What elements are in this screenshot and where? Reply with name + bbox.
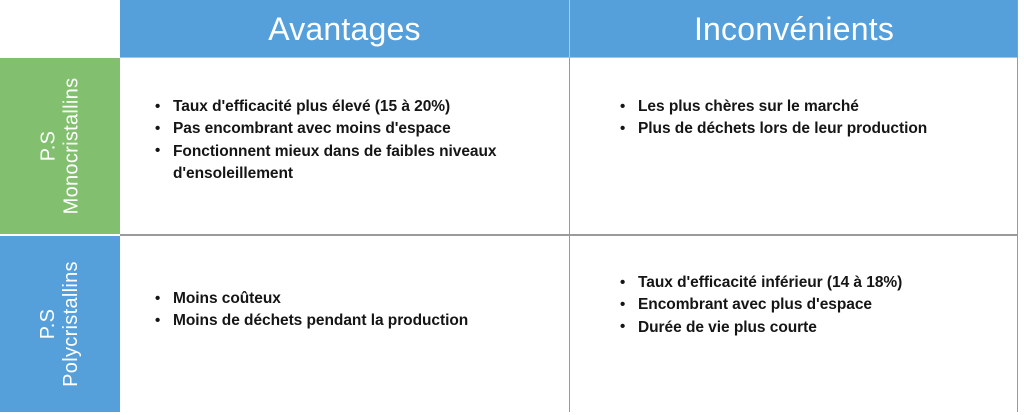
list-item: Taux d'efficacité plus élevé (15 à 20%)	[155, 96, 550, 118]
comparison-table: Avantages Inconvénients P.S Monocristall…	[0, 0, 1024, 415]
table-right-border	[1017, 0, 1018, 412]
row-label-line1: P.S	[37, 309, 59, 340]
row-label-text: P.S Polycristallins	[37, 261, 83, 387]
cell-row1-advantages: Taux d'efficacité plus élevé (15 à 20%) …	[120, 58, 570, 234]
header-label-disadvantages: Inconvénients	[694, 13, 894, 45]
row-label-text: P.S Monocristallins	[37, 78, 83, 215]
list-item: Moins coûteux	[155, 288, 550, 310]
bullet-list-row2-advantages: Moins coûteux Moins de déchets pendant l…	[155, 288, 550, 333]
cell-row2-disadvantages: Taux d'efficacité inférieur (14 à 18%) E…	[570, 236, 1018, 412]
row-label-line1: P.S	[37, 131, 59, 162]
bullet-list-row1-advantages: Taux d'efficacité plus élevé (15 à 20%) …	[155, 96, 550, 186]
table-row: P.S Polycristallins Moins coûteux Moins …	[0, 236, 1018, 412]
row-label-line2: Monocristallins	[60, 78, 82, 215]
list-item: Taux d'efficacité inférieur (14 à 18%)	[620, 272, 1000, 294]
header-label-advantages: Avantages	[268, 13, 420, 45]
row-label-monocristallins: P.S Monocristallins	[0, 58, 120, 234]
row-label-polycristallins: P.S Polycristallins	[0, 236, 120, 412]
bullet-list-row1-disadvantages: Les plus chères sur le marché Plus de dé…	[620, 96, 1000, 141]
list-item: Pas encombrant avec moins d'espace	[155, 118, 550, 140]
header-cell-disadvantages: Inconvénients	[570, 0, 1018, 57]
bullet-list-row2-disadvantages: Taux d'efficacité inférieur (14 à 18%) E…	[620, 272, 1000, 339]
list-item: Encombrant avec plus d'espace	[620, 294, 1000, 316]
header-corner-cell	[0, 0, 120, 57]
row-label-line2: Polycristallins	[60, 261, 82, 387]
list-item: Plus de déchets lors de leur production	[620, 118, 1000, 140]
table-header-row: Avantages Inconvénients	[0, 0, 1018, 57]
table-row: P.S Monocristallins Taux d'efficacité pl…	[0, 58, 1018, 234]
list-item: Durée de vie plus courte	[620, 317, 1000, 339]
list-item: Moins de déchets pendant la production	[155, 310, 550, 332]
list-item: Fonctionnent mieux dans de faibles nivea…	[155, 141, 550, 186]
cell-row2-advantages: Moins coûteux Moins de déchets pendant l…	[120, 236, 570, 412]
list-item: Les plus chères sur le marché	[620, 96, 1000, 118]
cell-row1-disadvantages: Les plus chères sur le marché Plus de dé…	[570, 58, 1018, 234]
header-cell-advantages: Avantages	[120, 0, 570, 57]
